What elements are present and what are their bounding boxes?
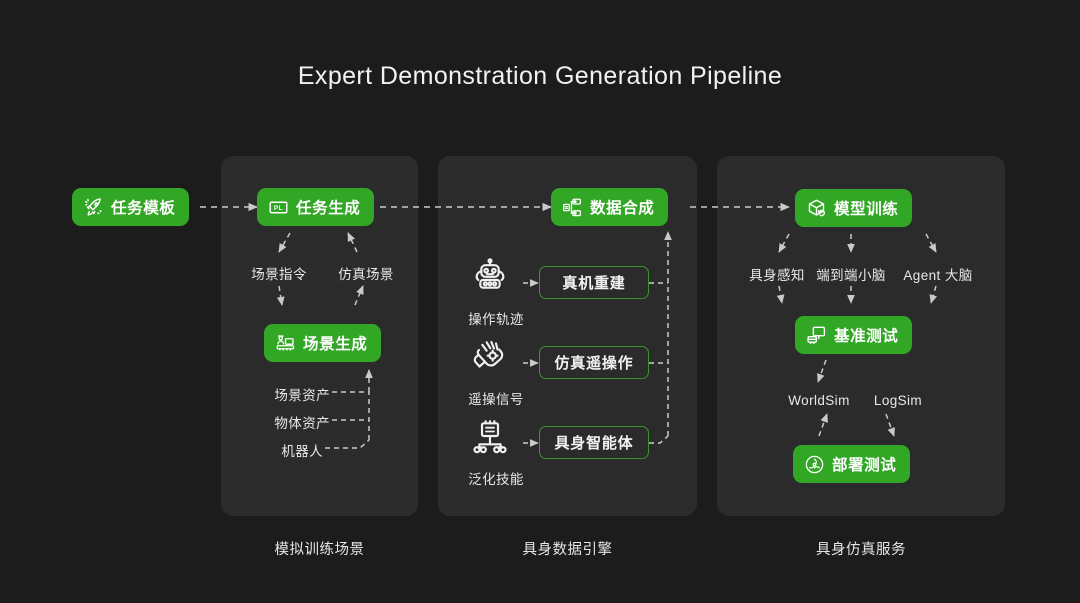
robot-icon [470, 258, 510, 298]
monitor-benchmark-icon [806, 325, 827, 346]
source-label-teleop-signal: 遥操信号 [468, 388, 524, 408]
node-task-generation[interactable]: PL 任务生成 [257, 188, 374, 226]
node-label: 任务生成 [296, 196, 360, 218]
data-glove-icon [470, 338, 510, 378]
box-real-machine-reconstruction[interactable]: 真机重建 [539, 266, 649, 299]
caption-simulation-training-scene: 模拟训练场景 [221, 538, 418, 559]
page-title: Expert Demonstration Generation Pipeline [0, 62, 1080, 91]
rocket-icon [83, 197, 104, 218]
node-label: 场景生成 [303, 332, 367, 354]
node-benchmark-test[interactable]: 基准测试 [795, 316, 912, 354]
box-simulated-teleoperation[interactable]: 仿真遥操作 [539, 346, 649, 379]
node-label: 数据合成 [590, 196, 654, 218]
input-label-object-assets: 物体资产 [274, 412, 330, 432]
node-task-template[interactable]: 任务模板 [72, 188, 189, 226]
data-nodes-icon [562, 197, 583, 218]
pl-badge-icon: PL [268, 197, 289, 218]
input-label-robot: 机器人 [281, 440, 323, 460]
node-scene-generation[interactable]: 场景生成 [264, 324, 381, 362]
node-data-synthesis[interactable]: 数据合成 [551, 188, 668, 226]
swirl-circle-icon [804, 454, 825, 475]
node-label: 部署测试 [832, 453, 896, 475]
edge-label-end-to-end-cerebellum: 端到端小脑 [816, 264, 886, 284]
svg-text:PL: PL [274, 204, 283, 211]
source-label-generalization-skill: 泛化技能 [468, 468, 524, 488]
edge-label-embodied-perception: 具身感知 [749, 264, 805, 284]
edge-label-logsim: LogSim [874, 393, 922, 408]
edge-label-worldsim: WorldSim [788, 393, 849, 408]
caption-embodied-data-engine: 具身数据引擎 [438, 538, 697, 559]
cube-refresh-icon [806, 198, 827, 219]
caption-embodied-simulation-service: 具身仿真服务 [717, 538, 1005, 559]
node-deployment-test[interactable]: 部署测试 [793, 445, 910, 483]
source-label-operation-trajectory: 操作轨迹 [468, 308, 524, 328]
box-embodied-agent[interactable]: 具身智能体 [539, 426, 649, 459]
input-label-scene-assets: 场景资产 [274, 384, 330, 404]
node-label: 基准测试 [834, 324, 898, 346]
edge-label-simulation-scene: 仿真场景 [338, 263, 394, 283]
ai-chip-icon [470, 418, 510, 458]
node-label: 任务模板 [111, 196, 175, 218]
worker-conveyor-icon [275, 333, 296, 354]
node-label: 模型训练 [834, 197, 898, 219]
edge-label-agent-brain: Agent 大脑 [903, 264, 972, 284]
diagram-canvas: Expert Demonstration Generation Pipeline [0, 0, 1080, 603]
edge-label-scene-instruction: 场景指令 [251, 263, 307, 283]
node-model-training[interactable]: 模型训练 [795, 189, 912, 227]
